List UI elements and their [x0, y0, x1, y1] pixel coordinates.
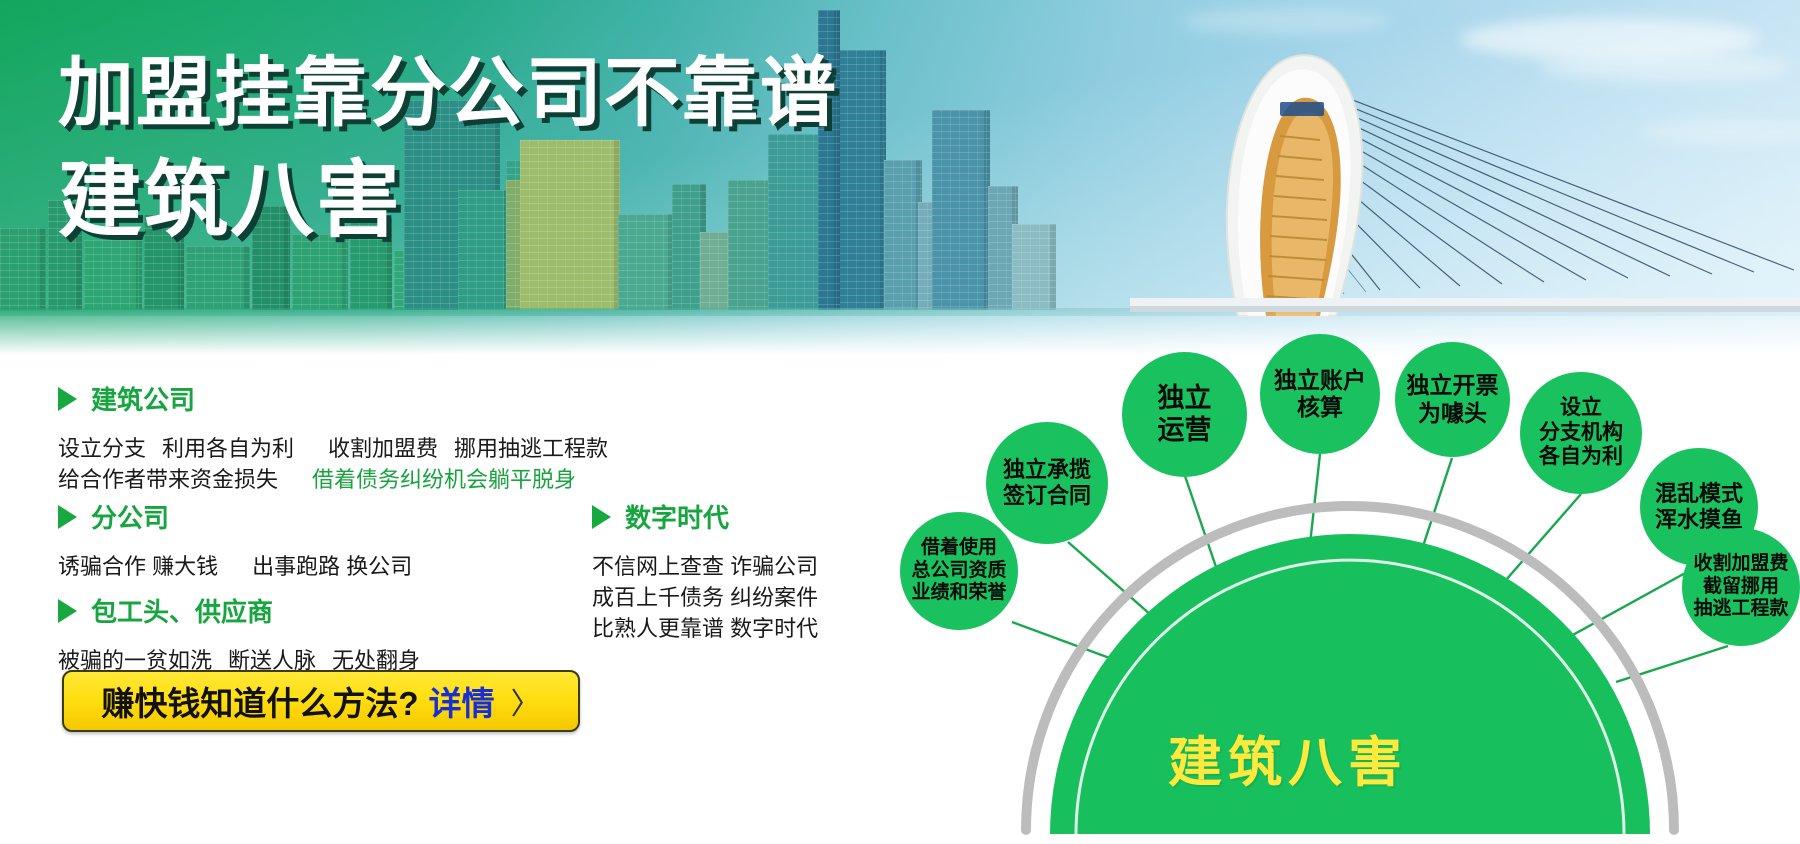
- cta-question-text: 赚快钱知道什么方法?: [101, 677, 418, 725]
- bubble-independent-operation[interactable]: 独立 运营: [1122, 352, 1247, 477]
- section-heading-text: 分公司: [91, 498, 169, 535]
- left-content: 建筑公司 设立分支利用各自为利收割加盟费挪用抽逃工程款 给合作者带来资金损失借着…: [0, 380, 880, 844]
- section-line: 诱骗合作 赚大钱出事跑路 换公司: [58, 551, 412, 582]
- eight-harms-diagram: 建筑八害 借着使用 总公司资质 业绩和荣誉 独立承揽 签订合同 独立 运营 独立…: [900, 330, 1800, 844]
- section-digital-era: 数字时代 不信网上查查 诈骗公司 成百上千债务 纠纷案件 比熟人更靠谱 数字时代: [592, 498, 818, 645]
- bubble-text: 独立账户 核算: [1274, 367, 1366, 421]
- chevron-right-icon: 〉: [511, 679, 541, 723]
- bubble-franchise-fee[interactable]: 收割加盟费 截留挪用 抽逃工程款: [1682, 528, 1800, 646]
- section-heading-construction: 建筑公司: [58, 380, 608, 417]
- bridge-illustration: [1130, 40, 1800, 330]
- triangle-bullet-icon: [58, 387, 77, 411]
- section-heading-digital: 数字时代: [592, 498, 818, 535]
- hero-title: 加盟挂靠分公司不靠谱 建筑八害: [58, 56, 838, 242]
- bubble-independent-account[interactable]: 独立账户 核算: [1260, 334, 1380, 454]
- bubble-independent-contract[interactable]: 独立承揽 签订合同: [986, 422, 1108, 544]
- section-line: 设立分支利用各自为利收割加盟费挪用抽逃工程款: [58, 433, 608, 464]
- phrase: 利用各自为利: [162, 436, 294, 461]
- section-heading-text: 包工头、供应商: [91, 592, 273, 629]
- bubble-use-hq-credentials[interactable]: 借着使用 总公司资质 业绩和荣誉: [900, 512, 1018, 630]
- section-line: 不信网上查查 诈骗公司: [592, 551, 818, 582]
- section-line: 给合作者带来资金损失借着债务纠纷机会躺平脱身: [58, 464, 608, 495]
- phrase: 收割加盟费: [328, 436, 438, 461]
- section-contractor-supplier: 包工头、供应商 被骗的一贫如洗断送人脉无处翻身: [58, 592, 420, 676]
- phrase: 出事跑路 换公司: [252, 554, 412, 579]
- triangle-bullet-icon: [592, 505, 611, 529]
- cta-detail-link[interactable]: 详情: [429, 677, 495, 725]
- poster-root: 加盟挂靠分公司不靠谱 建筑八害 建筑公司 设立分支利用各自为利收割加盟费挪用抽逃…: [0, 0, 1800, 844]
- bubble-text: 独立承揽 签订合同: [1003, 457, 1091, 509]
- bubble-text: 独立开票 为噱头: [1407, 372, 1499, 426]
- bubble-text: 混乱模式 浑水摸鱼: [1655, 481, 1743, 533]
- section-branch-company: 分公司 诱骗合作 赚大钱出事跑路 换公司: [58, 498, 412, 582]
- bubble-setup-branch[interactable]: 设立 分支机构 各自为利: [1520, 372, 1642, 494]
- section-body-branch: 诱骗合作 赚大钱出事跑路 换公司: [58, 551, 412, 582]
- section-line: 比熟人更靠谱 数字时代: [592, 613, 818, 644]
- section-heading-contractor: 包工头、供应商: [58, 592, 420, 629]
- cloud-icon: [1180, 8, 1390, 34]
- triangle-bullet-icon: [58, 505, 77, 529]
- triangle-bullet-icon: [58, 599, 77, 623]
- phrase: 诱骗合作 赚大钱: [58, 554, 218, 579]
- section-heading-text: 数字时代: [625, 498, 729, 535]
- section-heading-branch: 分公司: [58, 498, 412, 535]
- dome-label: 建筑八害: [1168, 718, 1408, 797]
- hero-title-line1: 加盟挂靠分公司不靠谱: [58, 56, 838, 132]
- phrase-highlight: 借着债务纠纷机会躺平脱身: [312, 467, 576, 492]
- section-line: 成百上千债务 纠纷案件: [592, 582, 818, 613]
- bubble-text: 收割加盟费 截留挪用 抽逃工程款: [1693, 553, 1788, 620]
- bubble-text: 独立 运营: [1158, 383, 1212, 447]
- bubble-text: 设立 分支机构 各自为利: [1539, 396, 1623, 470]
- bubble-independent-invoice[interactable]: 独立开票 为噱头: [1395, 342, 1510, 457]
- hero-banner: 加盟挂靠分公司不靠谱 建筑八害: [0, 0, 1800, 368]
- cta-button[interactable]: 赚快钱知道什么方法? 详情 〉: [62, 670, 580, 732]
- phrase: 挪用抽逃工程款: [454, 436, 608, 461]
- phrase: 给合作者带来资金损失: [58, 467, 278, 492]
- hero-title-line2: 建筑八害: [58, 158, 838, 242]
- section-construction-company: 建筑公司 设立分支利用各自为利收割加盟费挪用抽逃工程款 给合作者带来资金损失借着…: [58, 380, 608, 495]
- section-heading-text: 建筑公司: [91, 380, 195, 417]
- section-body-construction: 设立分支利用各自为利收割加盟费挪用抽逃工程款 给合作者带来资金损失借着债务纠纷机…: [58, 433, 608, 495]
- section-body-digital: 不信网上查查 诈骗公司 成百上千债务 纠纷案件 比熟人更靠谱 数字时代: [592, 551, 818, 645]
- bubble-text: 借着使用 总公司资质 业绩和荣誉: [911, 537, 1006, 604]
- phrase: 设立分支: [58, 436, 146, 461]
